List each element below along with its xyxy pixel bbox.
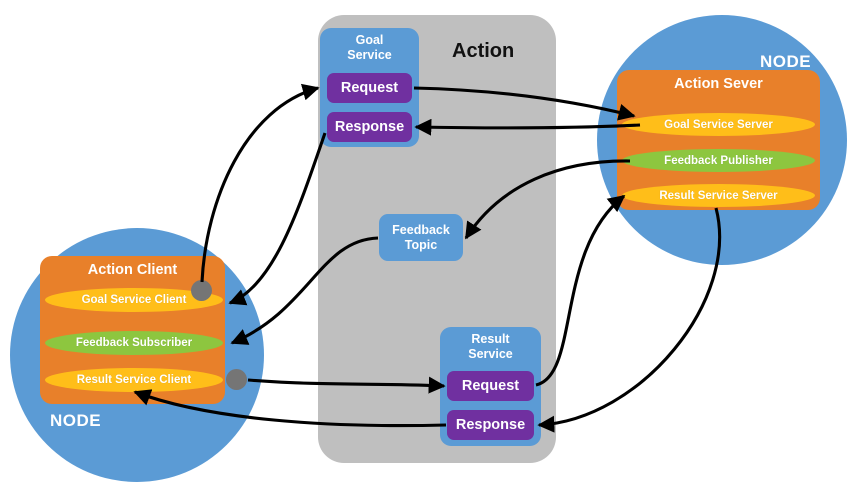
client-interface-result-service-client[interactable]: Result Service Client — [45, 368, 223, 392]
action-client-title: Action Client — [40, 262, 225, 278]
goal-service-title: Goal Service — [320, 33, 419, 63]
result-service-request[interactable]: Request — [447, 371, 534, 401]
result-service-title: Result Service — [440, 332, 541, 362]
feedback-topic-line1: Feedback — [392, 223, 450, 237]
result-service-title-line2: Service — [468, 347, 512, 361]
diagram-canvas: NODE Action Client Goal Service Client F… — [0, 0, 854, 480]
result-service-response[interactable]: Response — [447, 410, 534, 440]
action-server-title: Action Sever — [617, 76, 820, 92]
client-node-label: NODE — [50, 411, 101, 431]
goal-service-response[interactable]: Response — [327, 112, 412, 142]
client-result-connector-dot — [226, 369, 247, 390]
goal-service-title-line2: Service — [347, 48, 391, 62]
arrow-goal-response-to-client — [230, 133, 325, 303]
result-service-title-line1: Result — [471, 332, 509, 346]
goal-service-title-line1: Goal — [356, 33, 384, 47]
client-interface-feedback-subscriber[interactable]: Feedback Subscriber — [45, 331, 223, 355]
feedback-topic-box[interactable]: Feedback Topic — [379, 214, 463, 261]
server-interface-feedback-publisher[interactable]: Feedback Publisher — [622, 149, 815, 172]
feedback-topic-line2: Topic — [405, 238, 437, 252]
server-interface-result-service-server[interactable]: Result Service Server — [622, 184, 815, 207]
arrow-goal-client-to-request — [202, 88, 318, 282]
action-panel-title: Action — [452, 40, 514, 63]
server-node-label: NODE — [760, 52, 811, 72]
client-goal-connector-dot — [191, 280, 212, 301]
feedback-topic-label: Feedback Topic — [392, 223, 450, 253]
goal-service-request[interactable]: Request — [327, 73, 412, 103]
server-interface-goal-service-server[interactable]: Goal Service Server — [622, 113, 815, 136]
